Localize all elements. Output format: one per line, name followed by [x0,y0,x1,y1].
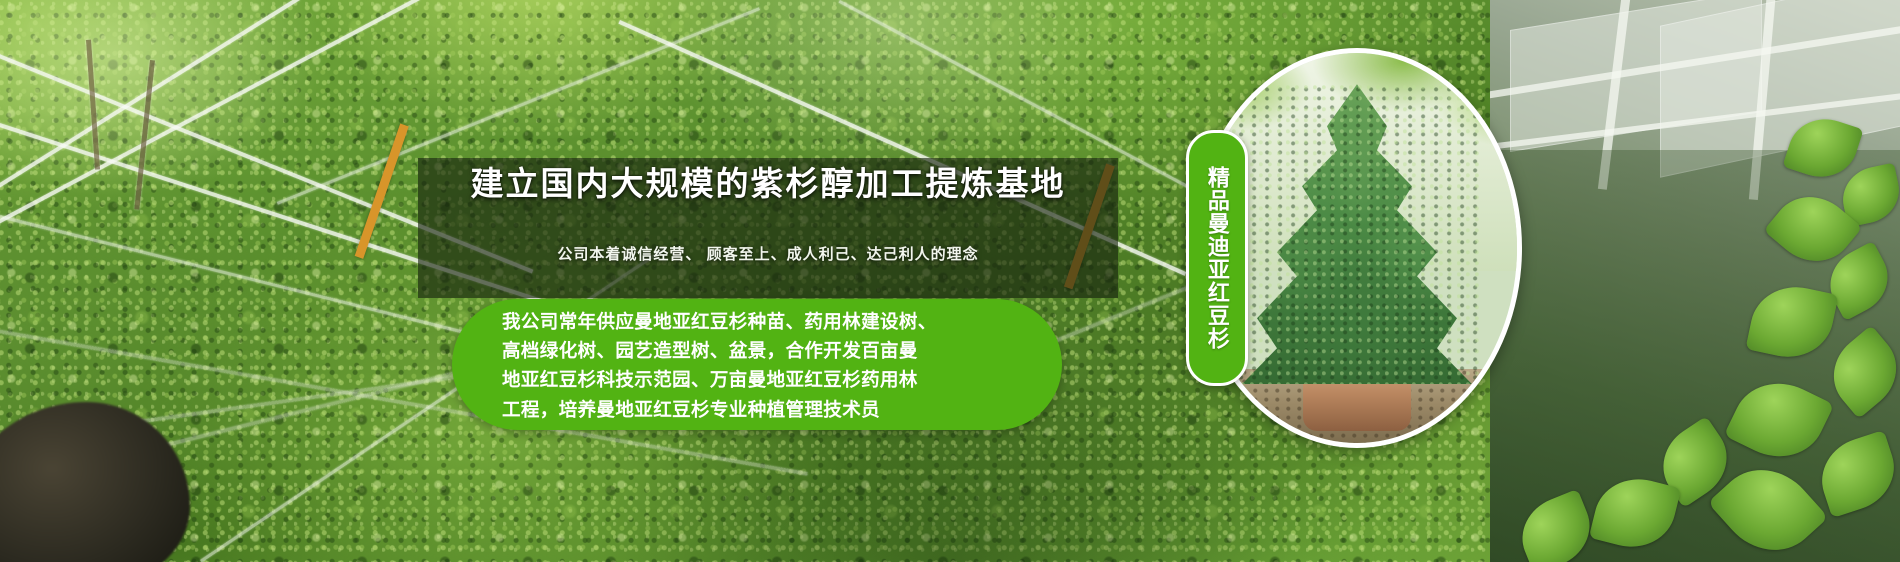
description-text: 我公司常年供应曼地亚红豆杉种苗、药用林建设树、 高档绿化树、园艺造型树、盆景，合… [502,307,1047,424]
description-line: 工程，培养曼地亚红豆杉专业种植管理技术员 [502,395,1047,424]
photo-yew-needle-texture [1232,84,1482,384]
description-line: 地亚红豆杉科技示范园、万亩曼地亚红豆杉药用林 [502,365,1047,394]
greenhouse-vine-photo [1490,0,1900,562]
vertical-badge-label: 精品曼迪亚红豆杉 [1205,166,1229,350]
vertical-product-badge: 精品曼迪亚红豆杉 [1186,130,1248,386]
page-subtitle: 公司本着诚信经营、 顾客至上、成人利己、达己利人的理念 [418,243,1118,264]
banner-root: 建立国内大规模的紫杉醇加工提炼基地 公司本着诚信经营、 顾客至上、成人利己、达己… [0,0,1900,562]
page-title: 建立国内大规模的紫杉醇加工提炼基地 [418,163,1118,204]
description-line: 我公司常年供应曼地亚红豆杉种苗、药用林建设树、 [502,307,1047,336]
description-line: 高档绿化树、园艺造型树、盆景，合作开发百亩曼 [502,336,1047,365]
